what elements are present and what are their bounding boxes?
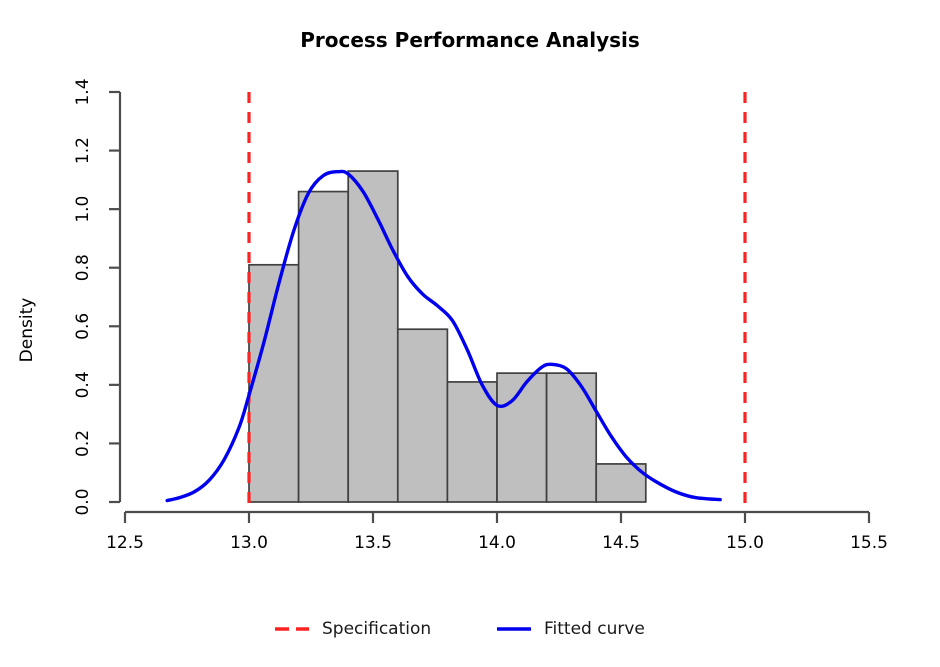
y-tick-label: 0.6 (73, 313, 93, 340)
density-histogram-plot: Process Performance Analysis Density 0.0… (0, 0, 940, 667)
histogram-bars (249, 171, 646, 502)
x-tick-label: 12.5 (106, 533, 144, 553)
histogram-bar (497, 373, 547, 502)
x-tick-label: 13.5 (354, 533, 392, 553)
x-axis: 12.513.013.514.014.515.015.5 (106, 512, 888, 553)
x-tick-label: 15.5 (850, 533, 888, 553)
chart-legend: SpecificationFitted curve (275, 619, 645, 639)
x-tick-label: 13.0 (230, 533, 268, 553)
histogram-bar (398, 329, 448, 502)
legend-label: Specification (322, 619, 431, 639)
histogram-bar (547, 373, 597, 502)
x-tick-label: 14.0 (478, 533, 516, 553)
y-axis-label: Density (17, 298, 37, 363)
y-tick-label: 1.2 (73, 137, 93, 164)
x-tick-label: 14.5 (602, 533, 640, 553)
y-tick-label: 0.8 (73, 254, 93, 281)
chart-container: Process Performance Analysis Density 0.0… (0, 0, 940, 667)
histogram-bar (299, 192, 349, 502)
y-tick-label: 0.4 (73, 371, 93, 398)
y-axis: 0.00.20.40.60.81.01.21.4 (73, 78, 120, 515)
histogram-bar (348, 171, 398, 502)
y-tick-label: 0.0 (73, 488, 93, 515)
y-tick-label: 1.0 (73, 196, 93, 223)
legend-label: Fitted curve (544, 619, 645, 639)
y-tick-label: 1.4 (73, 78, 93, 105)
chart-title: Process Performance Analysis (300, 28, 640, 52)
y-tick-label: 0.2 (73, 430, 93, 457)
x-tick-label: 15.0 (726, 533, 764, 553)
